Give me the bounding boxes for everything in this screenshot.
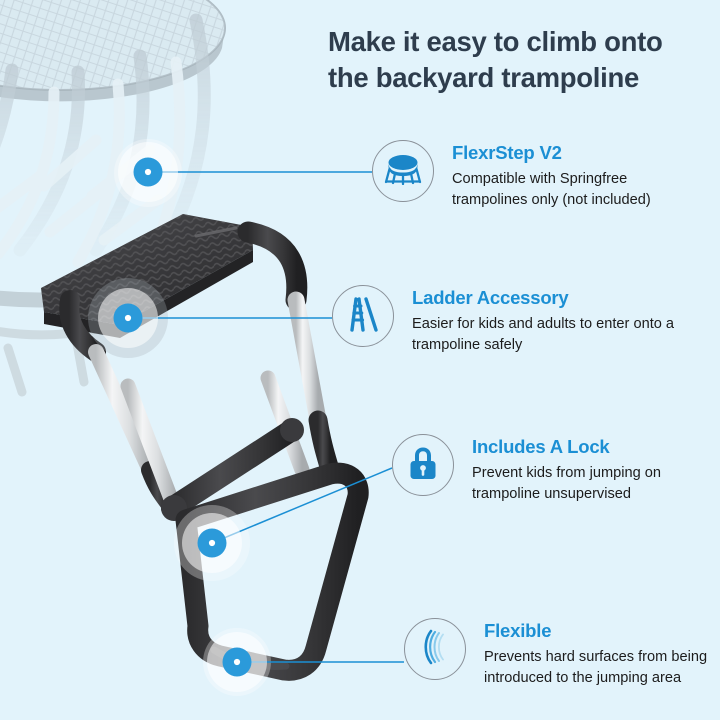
feature-flexrstep: FlexrStep V2 Compatible with Springfree … <box>372 140 651 212</box>
feature-desc-line-1: Prevents hard surfaces from being <box>484 647 707 668</box>
ladder-icon <box>346 296 380 337</box>
feature-icon-circle <box>404 618 466 680</box>
feature-description: Prevent kids from jumping on trampoline … <box>472 463 661 505</box>
lock-icon <box>407 445 439 486</box>
feature-title: Includes A Lock <box>472 436 661 458</box>
feature-desc-line-2: trampoline safely <box>412 335 674 356</box>
feature-flexible: Flexible Prevents hard surfaces from bei… <box>404 618 707 690</box>
feature-text: FlexrStep V2 Compatible with Springfree … <box>452 140 651 212</box>
feature-includes-lock: Includes A Lock Prevent kids from jumpin… <box>392 434 661 506</box>
feature-ladder-accessory: Ladder Accessory Easier for kids and adu… <box>332 285 674 357</box>
feature-desc-line-1: Prevent kids from jumping on <box>472 463 661 484</box>
feature-title: FlexrStep V2 <box>452 142 651 164</box>
feature-icon-circle <box>332 285 394 347</box>
feature-icon-circle <box>372 140 434 202</box>
feature-text: Includes A Lock Prevent kids from jumpin… <box>472 434 661 506</box>
feature-desc-line-2: trampoline unsupervised <box>472 484 661 505</box>
feature-desc-line-2: introduced to the jumping area <box>484 668 707 689</box>
feature-description: Prevents hard surfaces from being introd… <box>484 647 707 689</box>
headline-line-2: the backyard trampoline <box>328 60 716 96</box>
flex-lines-icon <box>418 628 452 671</box>
feature-icon-circle <box>392 434 454 496</box>
feature-text: Flexible Prevents hard surfaces from bei… <box>484 618 707 690</box>
infographic-canvas: Make it easy to climb onto the backyard … <box>0 0 720 720</box>
feature-desc-line-2: trampolines only (not included) <box>452 190 651 211</box>
feature-title: Ladder Accessory <box>412 287 674 309</box>
feature-description: Compatible with Springfree trampolines o… <box>452 169 651 211</box>
page-title: Make it easy to climb onto the backyard … <box>328 24 716 97</box>
product-photo <box>0 0 440 720</box>
feature-title: Flexible <box>484 620 707 642</box>
feature-description: Easier for kids and adults to enter onto… <box>412 314 674 356</box>
feature-desc-line-1: Compatible with Springfree <box>452 169 651 190</box>
trampoline-icon <box>384 153 422 190</box>
feature-text: Ladder Accessory Easier for kids and adu… <box>412 285 674 357</box>
feature-desc-line-1: Easier for kids and adults to enter onto… <box>412 314 674 335</box>
headline-line-1: Make it easy to climb onto <box>328 24 716 60</box>
